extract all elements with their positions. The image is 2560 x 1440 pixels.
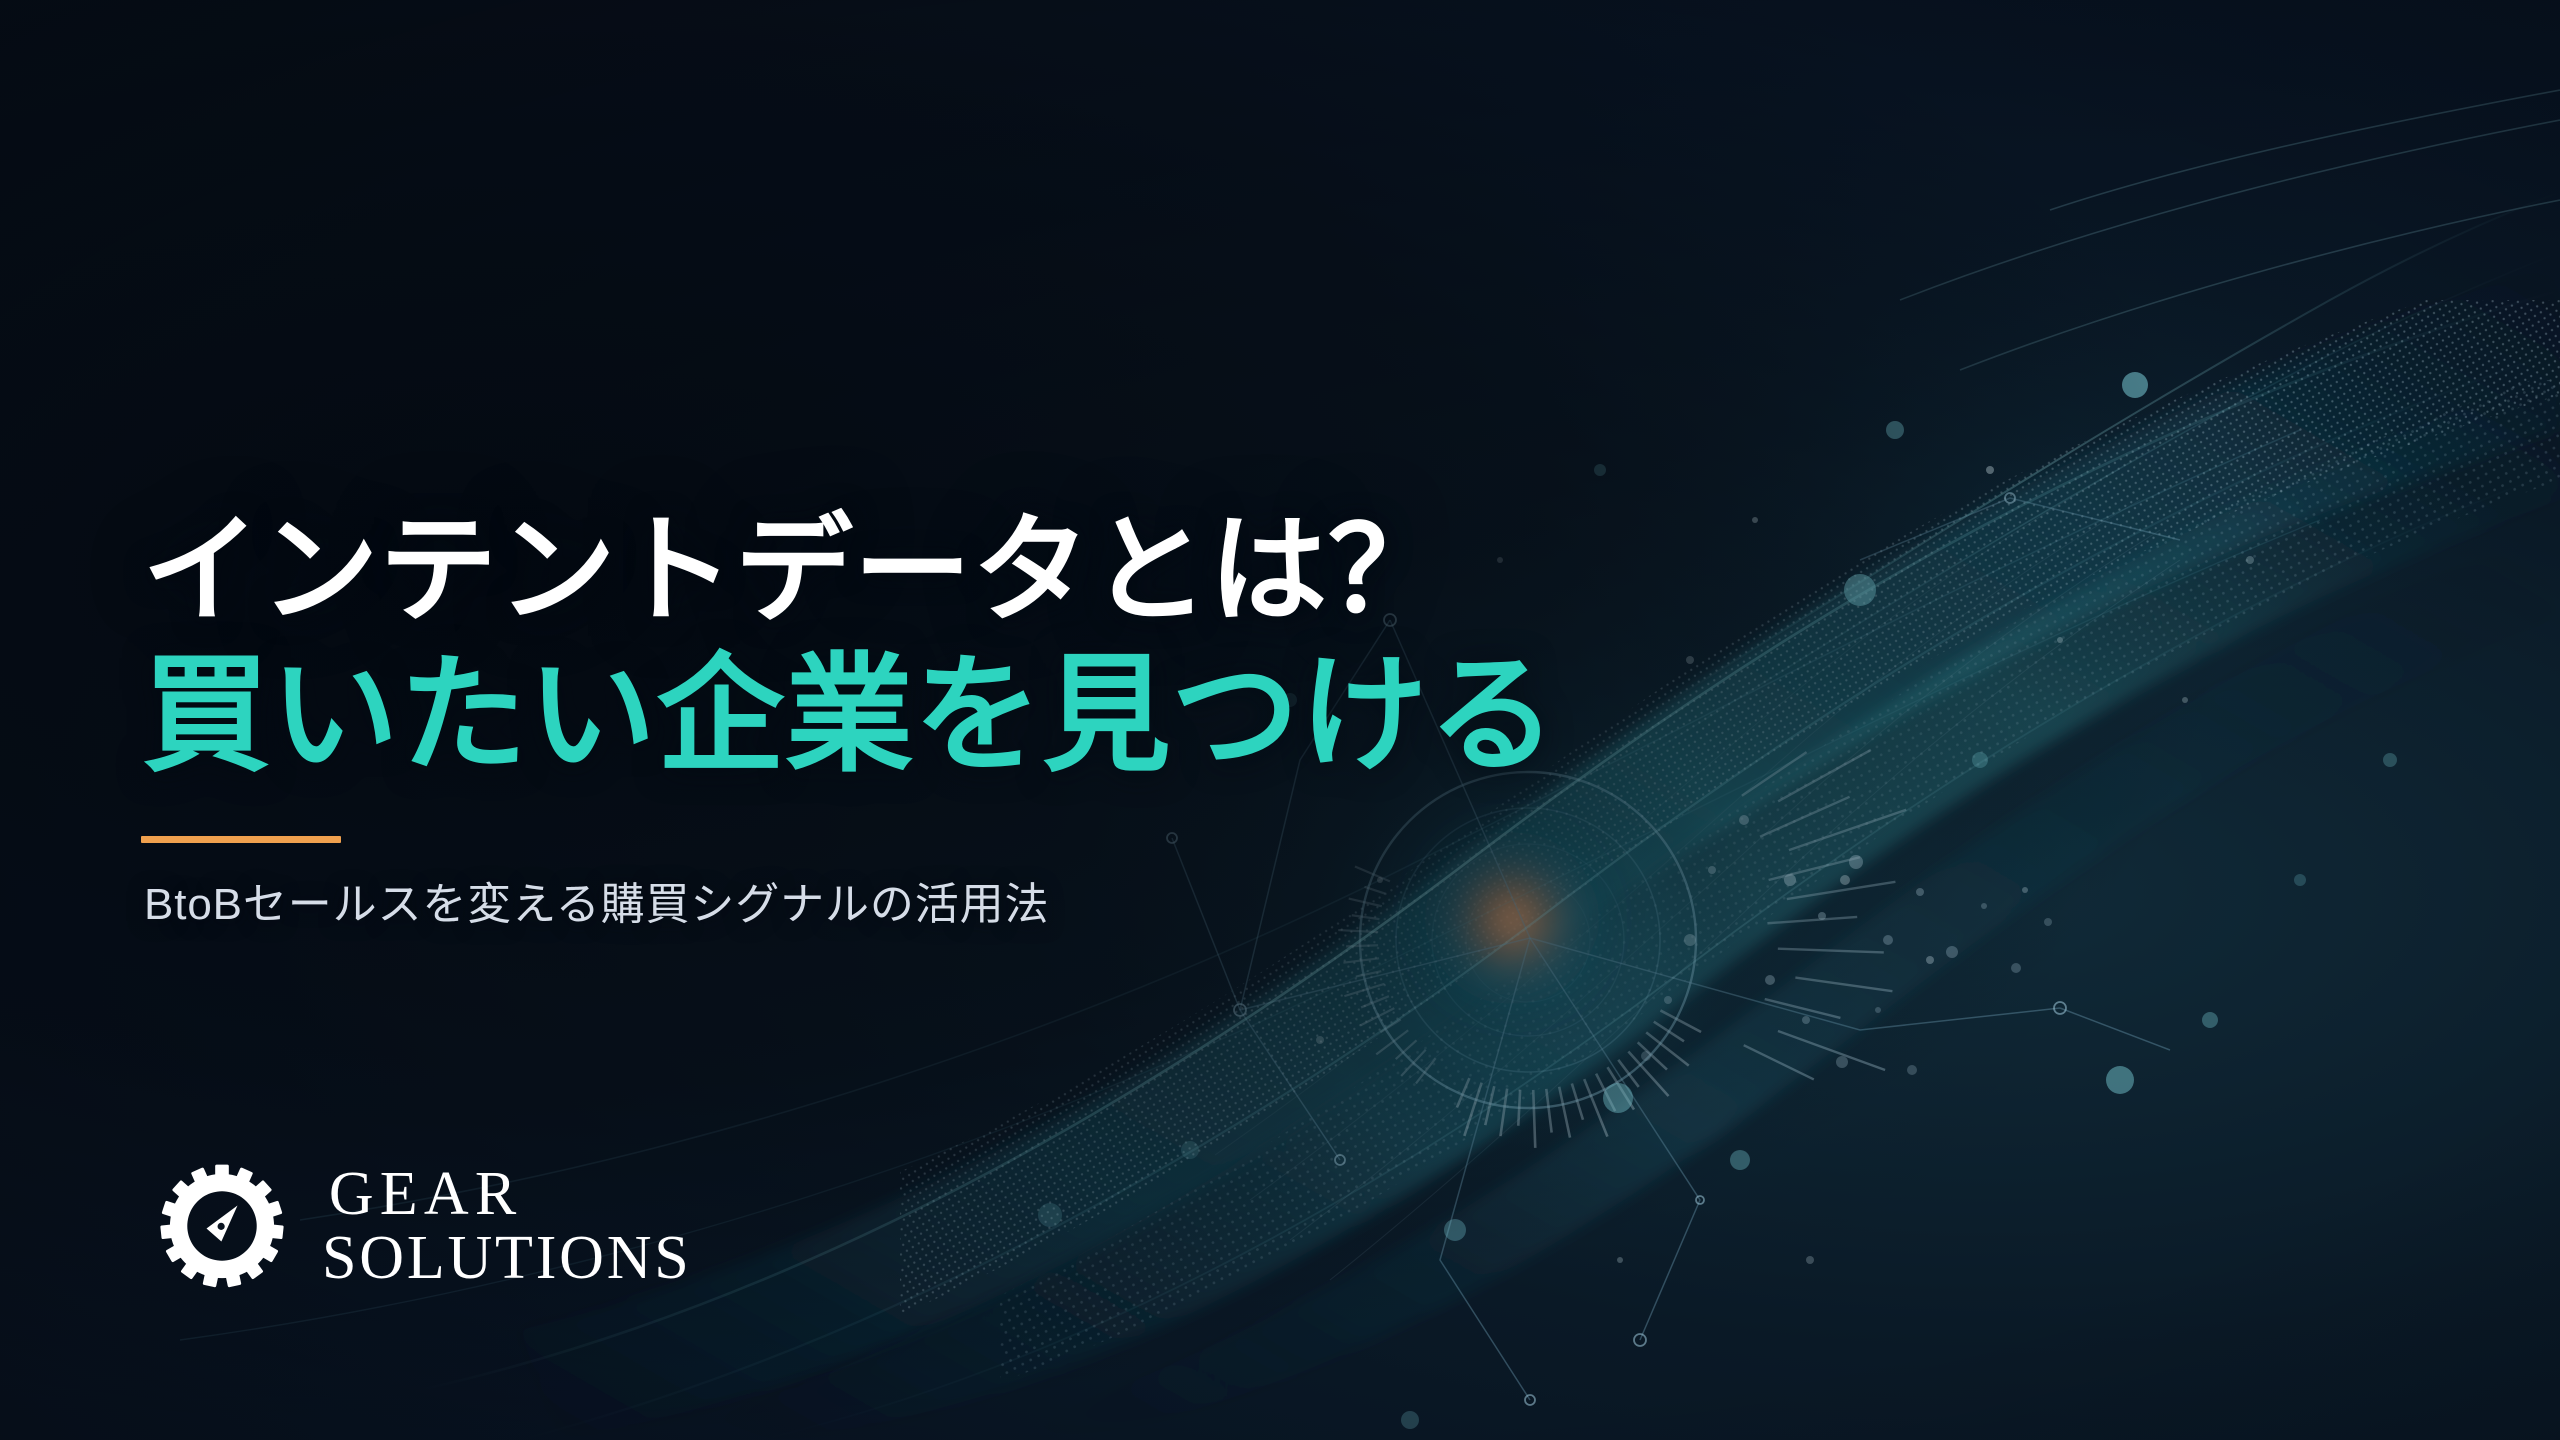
title-slide: インテントデータとは？ 買いたい企業を見つける BtoBセールスを変える購買シグ… xyxy=(0,0,2560,1440)
headline-line-1: インテントデータとは？ xyxy=(142,512,1557,630)
logo-wordmark: GEAR SOLUTIONS xyxy=(322,1162,692,1291)
headline-line-2: 買いたい企業を見つける xyxy=(142,652,1557,780)
logo-text-gear: GEAR xyxy=(322,1162,692,1226)
logo: GEAR SOLUTIONS xyxy=(160,1162,692,1291)
gear-compass-icon xyxy=(160,1164,284,1288)
accent-underline xyxy=(141,836,341,843)
headline-block: インテントデータとは？ 買いたい企業を見つける xyxy=(142,512,1557,780)
subtitle: BtoBセールスを変える購買シグナルの活用法 xyxy=(144,868,1049,932)
logo-text-solutions: SOLUTIONS xyxy=(322,1226,692,1290)
